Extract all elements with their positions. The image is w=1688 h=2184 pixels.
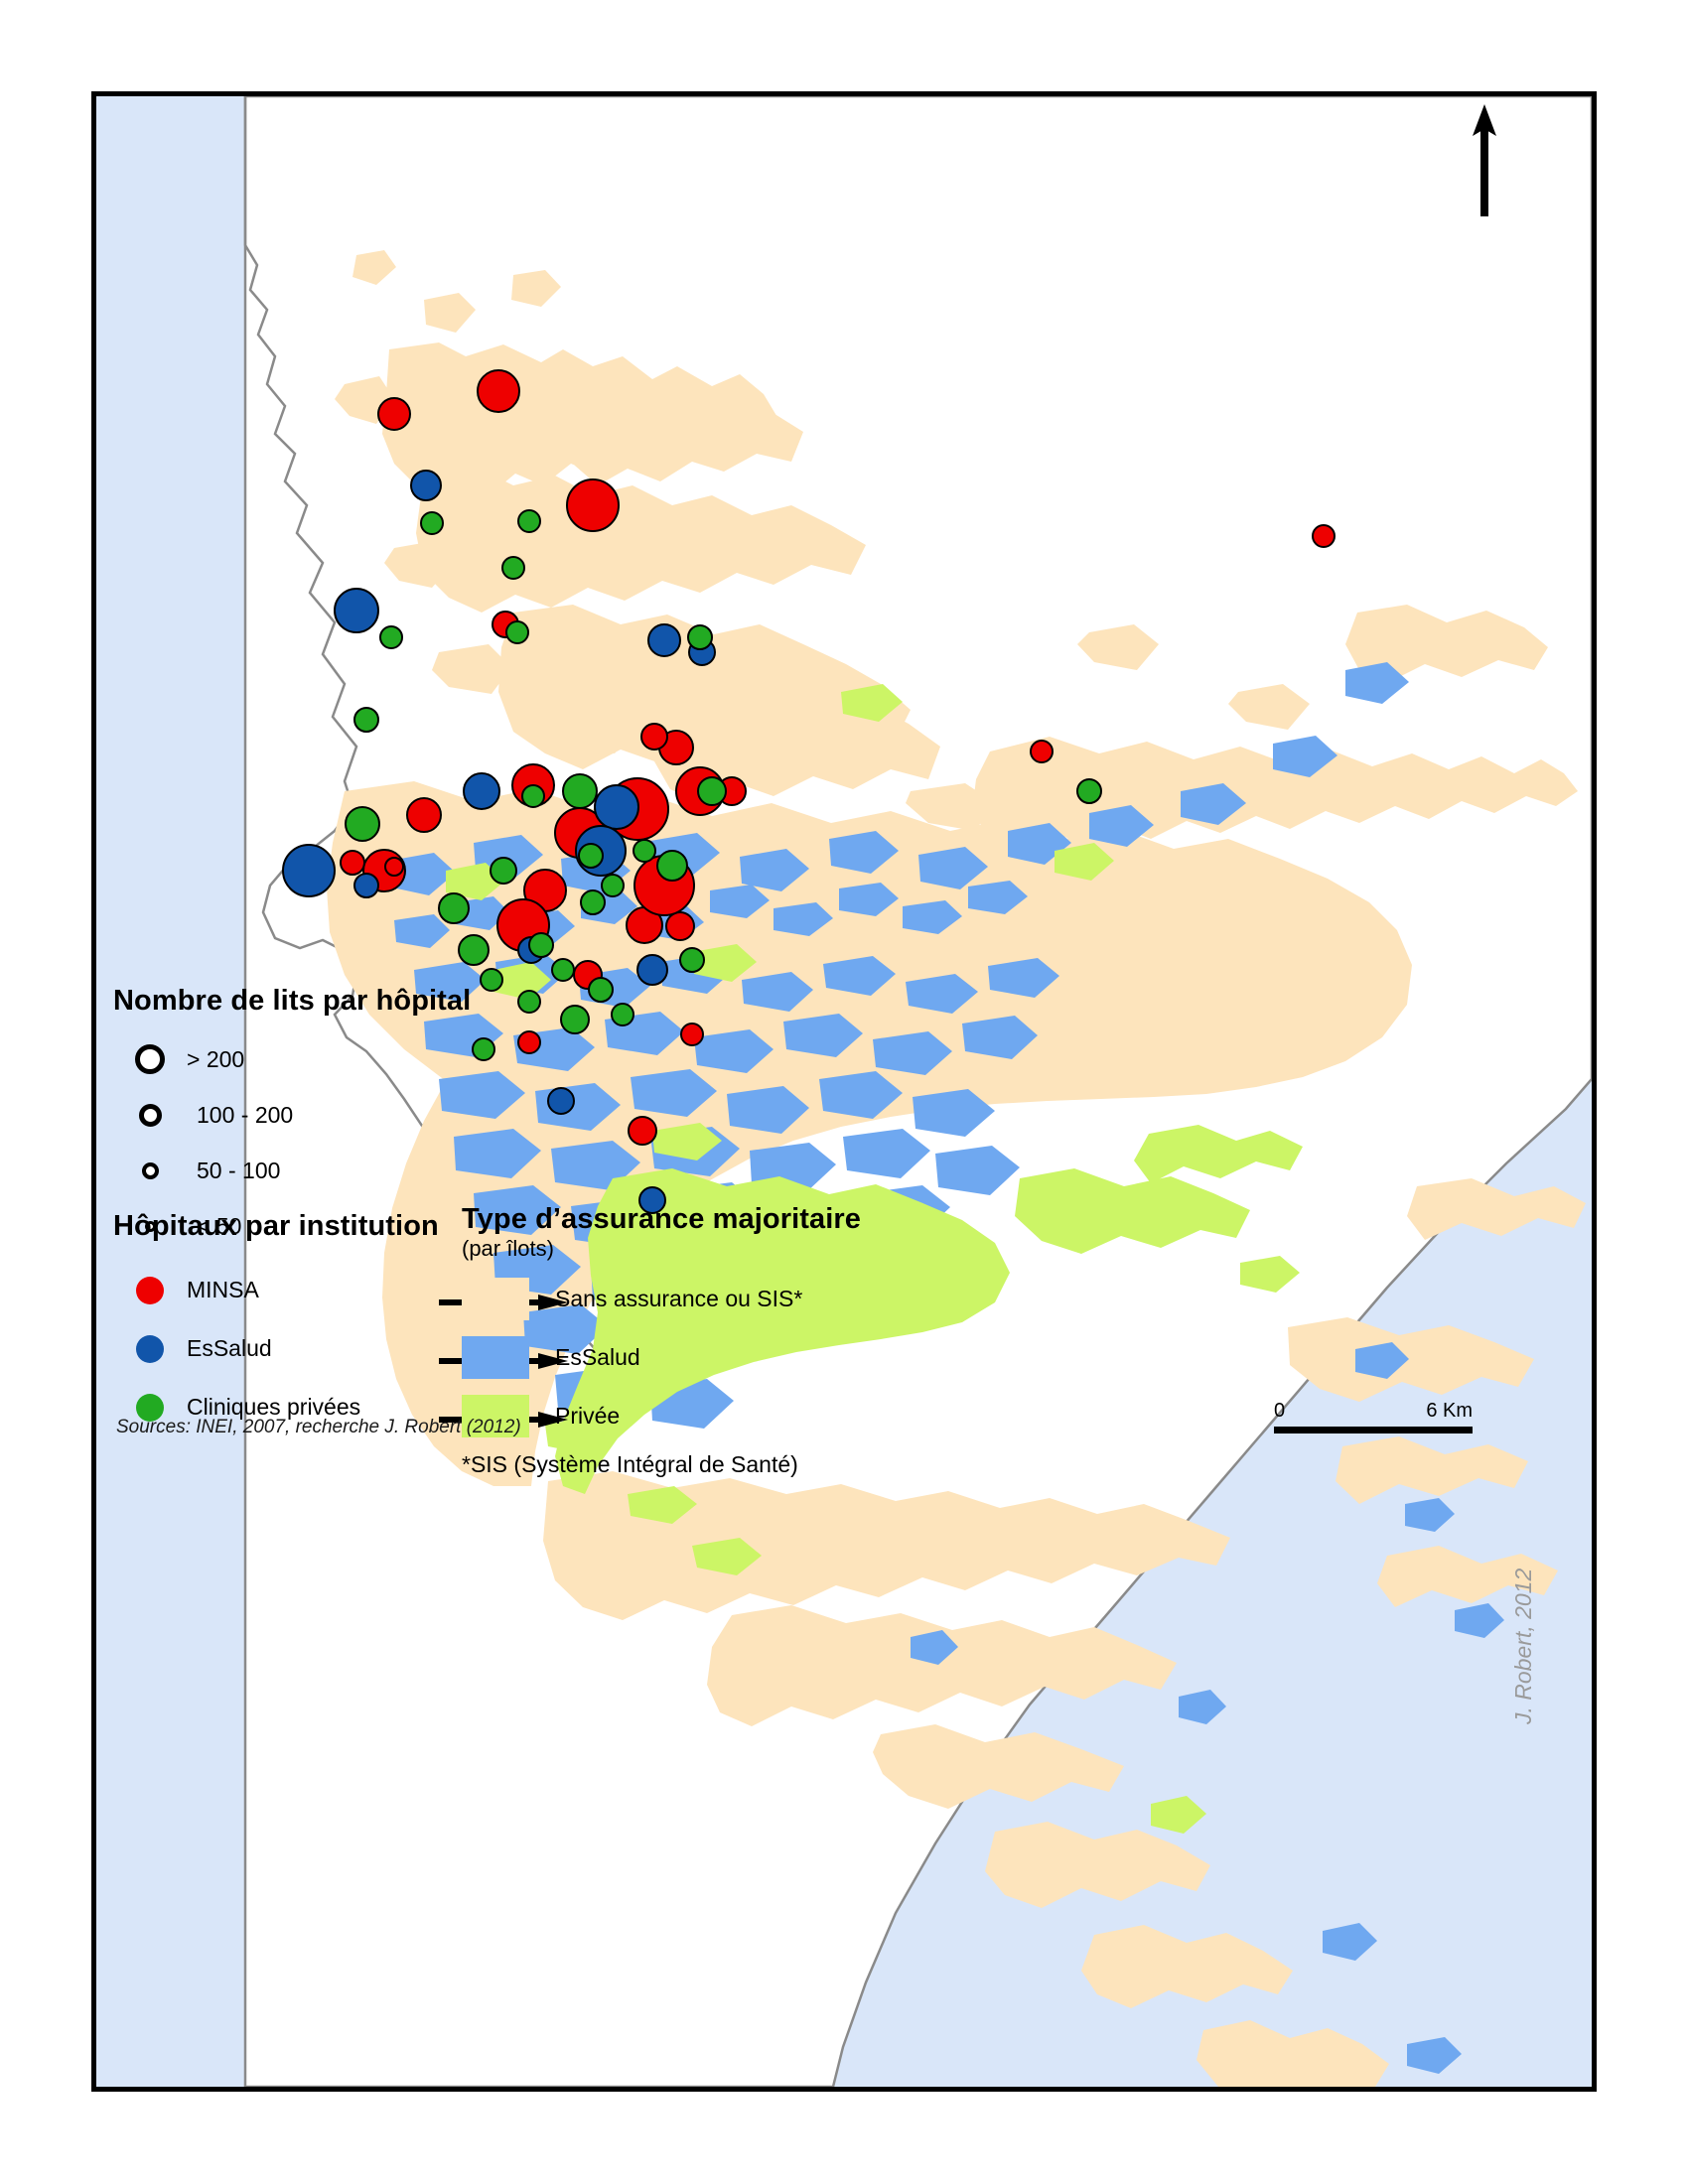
institution-legend-title: Hôpitaux par institution [113, 1210, 439, 1243]
minsa-dot-icon [113, 1277, 187, 1304]
institution-legend-row: MINSA [113, 1261, 439, 1319]
scale-min-label: 0 [1274, 1400, 1285, 1423]
beds-label-gt200: > 200 [187, 1046, 244, 1073]
insurance-footnote: *SIS (Système Intégral de Santé) [462, 1451, 861, 1478]
insurance-label-essalud: EsSalud [555, 1344, 640, 1371]
beds-symbol-50-100 [113, 1162, 187, 1179]
beds-legend-row: 50 - 100 [113, 1143, 471, 1198]
scale-bar-line [1274, 1427, 1473, 1433]
institution-legend: Hôpitaux par institution MINSA EsSalud C… [113, 1210, 439, 1436]
map-frame: Nombre de lits par hôpital > 200 100 - 2… [91, 91, 1597, 2092]
institution-label-minsa: MINSA [187, 1277, 259, 1303]
insurance-legend-title: Type d’assurance majoritaire [462, 1203, 861, 1236]
beds-symbol-gt200 [113, 1044, 187, 1074]
institution-label-essalud: EsSalud [187, 1335, 272, 1362]
insurance-legend-row: Privée [462, 1387, 861, 1445]
essalud-dot-icon [113, 1335, 187, 1363]
sources-note: Sources: INEI, 2007, recherche J. Robert… [116, 1417, 521, 1438]
north-arrow-icon [1455, 96, 1514, 225]
scale-max-label: 6 Km [1426, 1400, 1473, 1423]
beds-legend-title: Nombre de lits par hôpital [113, 985, 471, 1018]
insurance-label-private: Privée [555, 1403, 620, 1430]
author-credit: J. Robert, 2012 [1510, 1569, 1537, 1724]
beds-symbol-100-200 [113, 1104, 187, 1127]
insurance-legend: Type d’assurance majoritaire (par îlots)… [462, 1203, 861, 1478]
insurance-legend-row: EsSalud [462, 1328, 861, 1387]
beds-label-100-200: 100 - 200 [187, 1102, 293, 1129]
insurance-label-no-insurance: Sans assurance ou SIS* [555, 1286, 802, 1312]
scale-bar: 0 6 Km [1274, 1400, 1473, 1433]
swatch-no-insurance [462, 1278, 529, 1320]
beds-label-50-100: 50 - 100 [187, 1158, 280, 1184]
insurance-legend-row: Sans assurance ou SIS* [462, 1270, 861, 1328]
beds-legend-row: > 200 [113, 1031, 471, 1087]
insurance-legend-subtitle: (par îlots) [462, 1236, 861, 1262]
swatch-essalud [462, 1336, 529, 1379]
map-page: Nombre de lits par hôpital > 200 100 - 2… [0, 0, 1688, 2184]
institution-legend-row: EsSalud [113, 1319, 439, 1378]
beds-legend-row: 100 - 200 [113, 1087, 471, 1143]
